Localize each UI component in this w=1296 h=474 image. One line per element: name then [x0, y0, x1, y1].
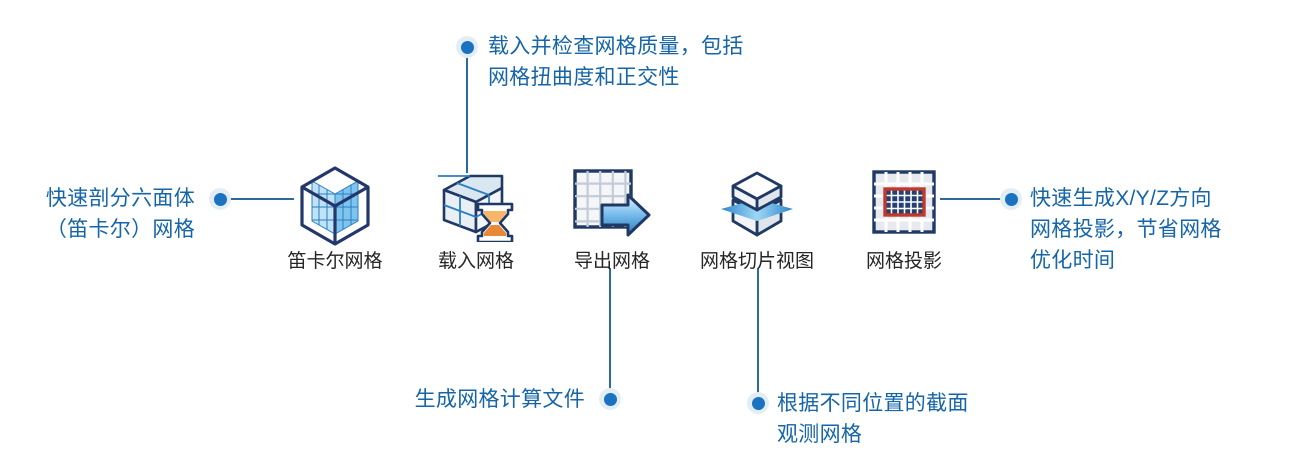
connector-line-export: [609, 268, 611, 390]
connector-dot-projection: [1000, 188, 1022, 210]
callout-export-text: 生成网格计算文件: [330, 384, 585, 415]
connector-dot-slice: [747, 392, 769, 414]
connector-dot-export: [599, 388, 621, 410]
caption-slice-view: 网格切片视图: [667, 250, 847, 274]
load-mesh-hourglass-icon[interactable]: [438, 170, 514, 242]
caption-cartesian-mesh: 笛卡尔网格: [255, 250, 415, 274]
export-mesh-arrow-icon[interactable]: [572, 168, 652, 242]
connector-dot-load: [456, 36, 478, 58]
mesh-toolchain-diagram: 笛卡尔网格 载入网格 导出网格 网格切片视图 网格投影 快速剖分六面体 （笛卡尔…: [0, 0, 1296, 474]
callout-load-text: 载入并检查网格质量，包括 网格扭曲度和正交性: [488, 31, 808, 93]
mesh-projection-grid-icon[interactable]: [872, 170, 936, 234]
connector-line-slice: [757, 268, 759, 398]
mesh-slice-cube-icon[interactable]: [713, 163, 801, 247]
connector-line-load: [466, 47, 468, 173]
callout-cartesian-text: 快速剖分六面体 （笛卡尔）网格: [10, 183, 195, 245]
cartesian-mesh-cube-icon[interactable]: [296, 164, 374, 248]
connector-line-projection: [940, 198, 1008, 200]
callout-projection-text: 快速生成X/Y/Z方向 网格投影，节省网格 优化时间: [1030, 183, 1280, 276]
connector-dot-cartesian: [209, 188, 231, 210]
caption-projection: 网格投影: [824, 250, 984, 274]
connector-line-cartesian: [226, 198, 294, 200]
callout-slice-text: 根据不同位置的截面 观测网格: [777, 388, 1037, 450]
